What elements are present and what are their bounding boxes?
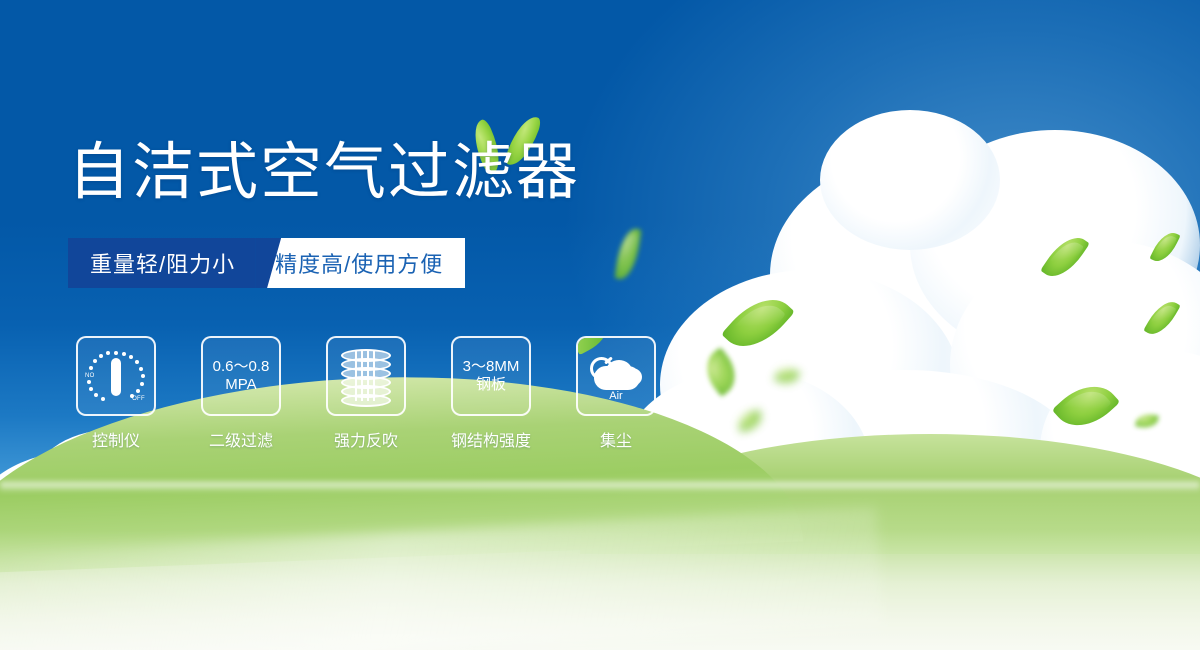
grass-sheen bbox=[0, 530, 1200, 650]
product-banner: 自洁式空气过滤器 重量轻/阻力小 精度高/使用方便 bbox=[0, 0, 1200, 650]
air-cloud-icon: Air bbox=[576, 336, 656, 416]
dial-label-off: OFF bbox=[132, 396, 145, 402]
control-dial-icon: NO OFF bbox=[76, 336, 156, 416]
feature-item-pressure[interactable]: 0.6～0.8 MPA 二级过滤 bbox=[203, 336, 279, 451]
feature-caption: 钢结构强度 bbox=[451, 427, 531, 451]
filter-coil-icon bbox=[326, 336, 406, 416]
dial-label-no: NO bbox=[85, 373, 95, 379]
feature-caption: 控制仪 bbox=[92, 427, 140, 451]
feature-caption: 集尘 bbox=[600, 427, 632, 451]
cloud-graphic: Air bbox=[586, 352, 646, 400]
pressure-text-icon: 0.6～0.8 MPA bbox=[201, 336, 281, 416]
air-label: Air bbox=[586, 390, 646, 402]
steel-plate-text-icon: 3～8MM 钢板 bbox=[451, 336, 531, 416]
horizon-line bbox=[0, 482, 1200, 492]
coil-graphic bbox=[339, 347, 393, 405]
feature-item-backblow[interactable]: 强力反吹 bbox=[328, 336, 404, 451]
pressure-line-1: 0.6～0.8 bbox=[213, 358, 270, 376]
steel-line-2: 钢板 bbox=[476, 376, 506, 394]
page-title: 自洁式空气过滤器 bbox=[68, 142, 580, 204]
feature-list: NO OFF 控制仪 0.6～0.8 MPA 二级过滤 bbox=[78, 336, 654, 451]
feature-item-dust[interactable]: Air 集尘 bbox=[578, 336, 654, 451]
subtitle-tag-secondary: 精度高/使用方便 bbox=[267, 238, 465, 288]
feature-item-control[interactable]: NO OFF 控制仪 bbox=[78, 336, 154, 451]
feature-item-steel[interactable]: 3～8MM 钢板 钢结构强度 bbox=[453, 336, 529, 451]
feature-caption: 强力反吹 bbox=[334, 427, 398, 451]
steel-line-1: 3～8MM bbox=[463, 358, 520, 376]
subtitle-bar: 重量轻/阻力小 精度高/使用方便 bbox=[68, 238, 465, 288]
subtitle-tag-primary: 重量轻/阻力小 bbox=[68, 238, 255, 288]
dial-graphic: NO OFF bbox=[85, 346, 147, 406]
pressure-line-2: MPA bbox=[225, 376, 256, 394]
feature-caption: 二级过滤 bbox=[209, 427, 273, 451]
